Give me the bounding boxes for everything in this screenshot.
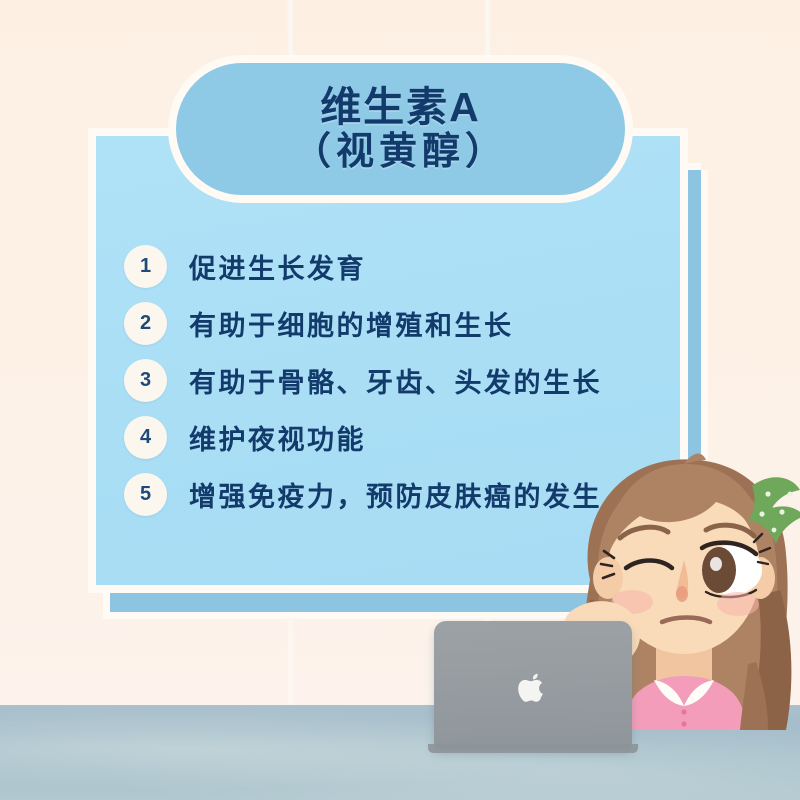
page-subtitle: （视黄醇） bbox=[293, 132, 508, 173]
list-item-number: 1 bbox=[124, 245, 167, 288]
poster-canvas: 维生素A （视黄醇） 1 促进生长发育 2 有助于细胞的增殖和生长 3 有助于骨… bbox=[0, 0, 800, 800]
list-item-number: 5 bbox=[124, 473, 167, 516]
list-item-number: 3 bbox=[124, 359, 167, 402]
list-item-label: 促进生长发育 bbox=[189, 247, 366, 286]
list-item: 2 有助于细胞的增殖和生长 bbox=[124, 295, 684, 352]
apple-logo-icon bbox=[516, 669, 550, 709]
list-item: 1 促进生长发育 bbox=[124, 238, 684, 295]
list-item-label: 有助于骨骼、牙齿、头发的生长 bbox=[189, 361, 602, 400]
laptop-base bbox=[428, 744, 638, 753]
list-item: 3 有助于骨骼、牙齿、头发的生长 bbox=[124, 352, 684, 409]
laptop[interactable] bbox=[434, 621, 632, 749]
list-item-label: 有助于细胞的增殖和生长 bbox=[189, 304, 514, 343]
list-item-number: 4 bbox=[124, 416, 167, 459]
title-pill: 维生素A （视黄醇） bbox=[168, 55, 633, 203]
list-item-label: 增强免疫力，预防皮肤癌的发生 bbox=[189, 475, 602, 514]
list-item-label: 维护夜视功能 bbox=[189, 418, 366, 457]
list-item-number: 2 bbox=[124, 302, 167, 345]
page-title: 维生素A bbox=[320, 85, 481, 129]
